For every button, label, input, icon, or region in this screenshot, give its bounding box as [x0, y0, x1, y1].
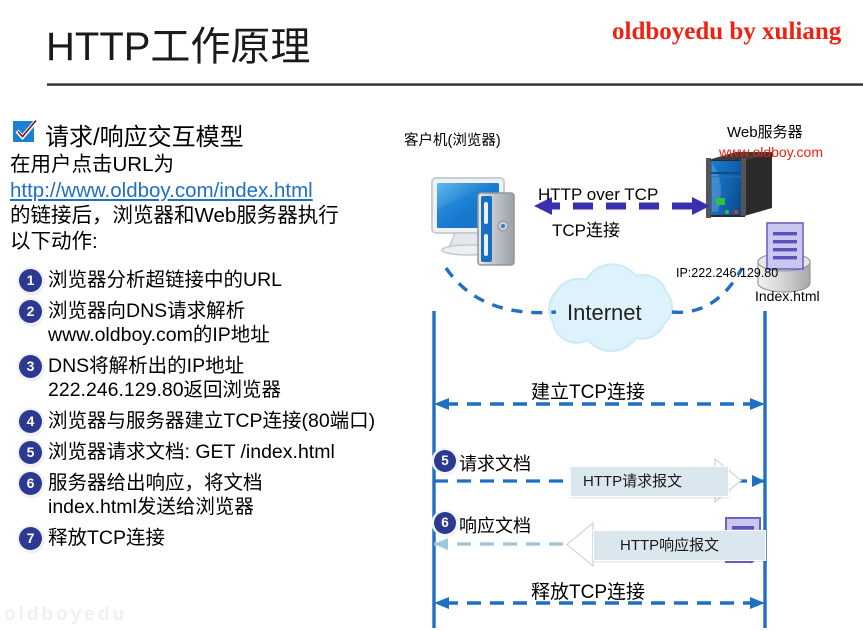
- release-tcp-label: 释放TCP连接: [531, 577, 645, 604]
- server-url-label: www.oldboy.com: [719, 144, 823, 160]
- tcp-connection-label: TCP连接: [552, 216, 620, 241]
- internet-label: Internet: [567, 300, 642, 326]
- network-diagram: 客户机(浏览器) Web服务器 www.oldboy.com HTTP over…: [0, 0, 863, 631]
- desktop-computer-icon: [432, 178, 514, 265]
- client-cloud-link: [446, 268, 556, 313]
- slide-root: HTTP工作原理 oldboyedu by xuliang 请求/响应交互模型 …: [0, 0, 863, 631]
- server-tower-icon: [706, 152, 772, 218]
- request-document-label: 请求文档: [459, 450, 531, 476]
- index-file-label: Index.html: [755, 288, 820, 304]
- establish-tcp-label: 建立TCP连接: [531, 377, 645, 404]
- http-response-banner: HTTP响应报文: [593, 530, 766, 561]
- http-request-banner: HTTP请求报文: [570, 466, 729, 497]
- sequence-number-badge-6: 6: [434, 512, 456, 534]
- http-over-tcp-label: HTTP over TCP: [538, 185, 658, 205]
- server-ip-label: IP:222.246.129.80: [676, 266, 750, 280]
- response-document-label: 响应文档: [459, 512, 531, 538]
- server-label: Web服务器: [727, 121, 803, 142]
- response-arrowhead-icon: [567, 523, 593, 566]
- document-database-icon: [758, 223, 810, 292]
- sequence-number-badge-5: 5: [434, 450, 456, 472]
- client-label: 客户机(浏览器): [404, 129, 501, 150]
